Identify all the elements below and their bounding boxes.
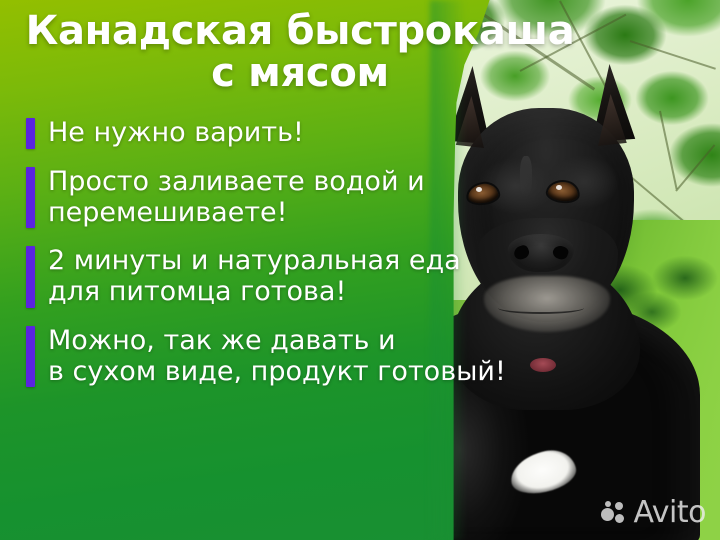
bullet-marker-icon — [26, 167, 35, 229]
title-line-1: Канадская быстрокаша — [0, 10, 600, 52]
list-item: 2 минуты и натуральная еда для питомца г… — [26, 246, 606, 308]
feature-list: Не нужно варить! Просто заливаете водой … — [26, 118, 606, 405]
list-item-label: 2 минуты и натуральная еда для питомца г… — [48, 246, 461, 308]
bullet-marker-icon — [26, 246, 35, 308]
list-item: Не нужно варить! — [26, 118, 606, 149]
title-line-2: с мясом — [0, 52, 600, 94]
bullet-marker-icon — [26, 326, 35, 388]
bullet-marker-icon — [26, 118, 35, 149]
list-item-label: Не нужно варить! — [48, 118, 304, 149]
avito-wordmark: Avito — [634, 498, 706, 528]
page-title: Канадская быстрокаша с мясом — [0, 10, 600, 94]
avito-watermark: Avito — [601, 498, 706, 528]
list-item: Просто заливаете водой и перемешиваете! — [26, 167, 606, 229]
list-item-label: Просто заливаете водой и перемешиваете! — [48, 167, 425, 229]
listing-image: Канадская быстрокаша с мясом Не нужно ва… — [0, 0, 720, 540]
avito-dots-icon — [601, 501, 627, 525]
list-item: Можно, так же давать и в сухом виде, про… — [26, 326, 606, 388]
list-item-label: Можно, так же давать и в сухом виде, про… — [48, 326, 506, 388]
